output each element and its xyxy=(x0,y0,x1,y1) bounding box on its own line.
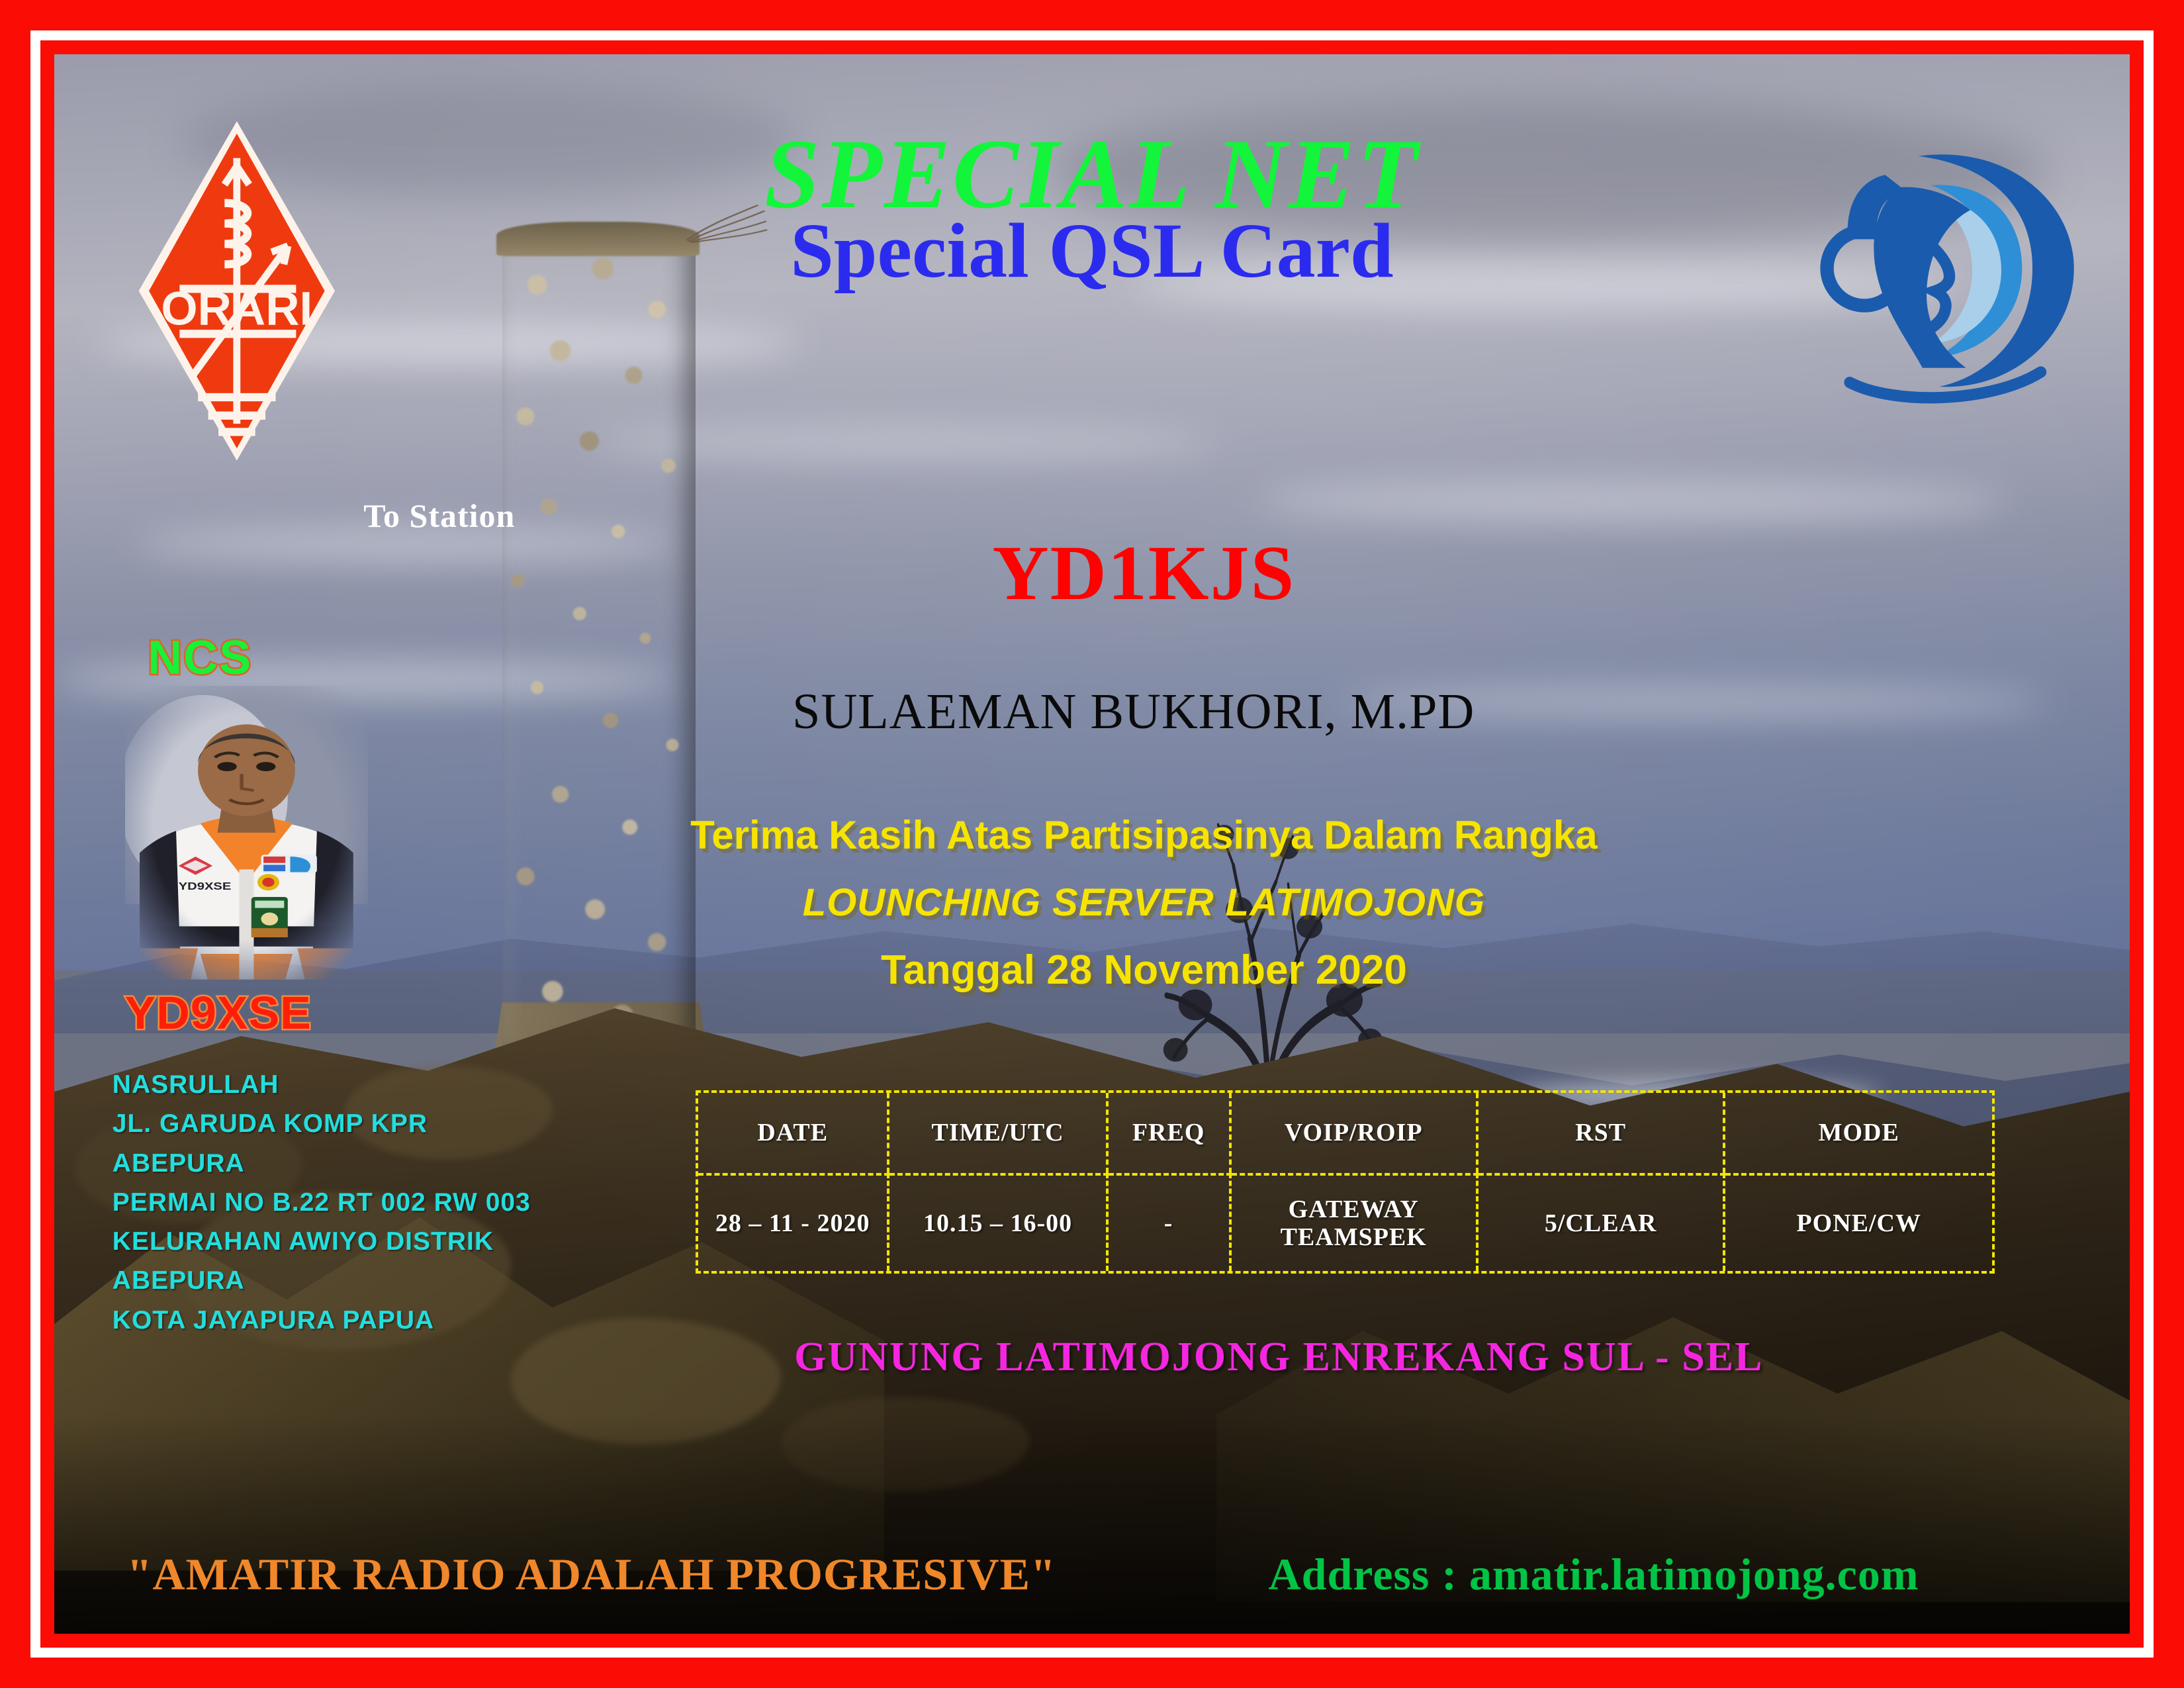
table-header-rst: RST xyxy=(1479,1093,1725,1173)
location-line: GUNUNG LATIMOJONG ENREKANG SUL - SEL xyxy=(677,1334,1881,1381)
card-white-gap: ORARI SPECIAL NET Special xyxy=(30,30,2154,1658)
table-cell-freq: - xyxy=(1109,1173,1232,1271)
page-subtitle: Special QSL Card xyxy=(54,206,2130,296)
card-inner-red-border: ORARI SPECIAL NET Special xyxy=(40,40,2144,1648)
operator-name: SULAEMAN BUKHORI, M.PD xyxy=(553,683,1715,741)
event-line: LOUNCHING SERVER LATIMOJONG xyxy=(625,880,1662,925)
qsl-card: ORARI SPECIAL NET Special xyxy=(0,0,2184,1688)
to-station-label: To Station xyxy=(363,496,515,535)
address-line: KELURAHAN AWIYO DISTRIK xyxy=(113,1222,531,1261)
table-cell-voip-roip: GATEWAY TEAMSPEK xyxy=(1232,1173,1479,1271)
table-header-date: DATE xyxy=(698,1093,889,1173)
callsign: YD1KJS xyxy=(604,528,1684,618)
svg-text:YD9XSE: YD9XSE xyxy=(178,881,231,892)
table-header-time: TIME/UTC xyxy=(889,1093,1108,1173)
event-date-line: Tanggal 28 November 2020 xyxy=(625,947,1662,994)
table-cell-mode: PONE/CW xyxy=(1725,1173,1992,1271)
table-cell-date: 28 – 11 - 2020 xyxy=(698,1173,889,1271)
table-header-mode: MODE xyxy=(1725,1093,1992,1173)
website-address: Address : amatir.latimojong.com xyxy=(1269,1548,1919,1601)
ncs-label: NCS xyxy=(148,631,252,685)
address-line: NASRULLAH xyxy=(113,1065,531,1104)
address-line: ABEPURA xyxy=(113,1261,531,1300)
table-cell-time: 10.15 – 16-00 xyxy=(889,1173,1108,1271)
table-header-row: DATE TIME/UTC FREQ VOIP/ROIP RST MODE xyxy=(698,1093,1992,1173)
ncs-callsign: YD9XSE xyxy=(125,986,312,1039)
table-header-voip-roip: VOIP/ROIP xyxy=(1232,1093,1479,1173)
address-line: ABEPURA xyxy=(113,1144,531,1183)
ncs-address-block: NASRULLAH JL. GARUDA KOMP KPR ABEPURA PE… xyxy=(113,1065,531,1340)
address-line: JL. GARUDA KOMP KPR xyxy=(113,1104,531,1143)
address-line: KOTA JAYAPURA PAPUA xyxy=(113,1301,531,1340)
qso-log-table: DATE TIME/UTC FREQ VOIP/ROIP RST MODE 28… xyxy=(696,1090,1995,1274)
background-photograph: ORARI SPECIAL NET Special xyxy=(54,54,2130,1634)
table-row: 28 – 11 - 2020 10.15 – 16-00 - GATEWAY T… xyxy=(698,1173,1992,1271)
table-cell-rst: 5/CLEAR xyxy=(1479,1173,1725,1271)
address-line: PERMAI NO B.22 RT 002 RW 003 xyxy=(113,1183,531,1222)
slogan-text: "AMATIR RADIO ADALAH PROGRESIVE" xyxy=(127,1548,1056,1601)
ncs-operator-photo: YD9XSE xyxy=(125,686,368,980)
table-header-freq: FREQ xyxy=(1109,1093,1232,1173)
thanks-line: Terima Kasih Atas Partisipasinya Dalam R… xyxy=(625,812,1662,858)
